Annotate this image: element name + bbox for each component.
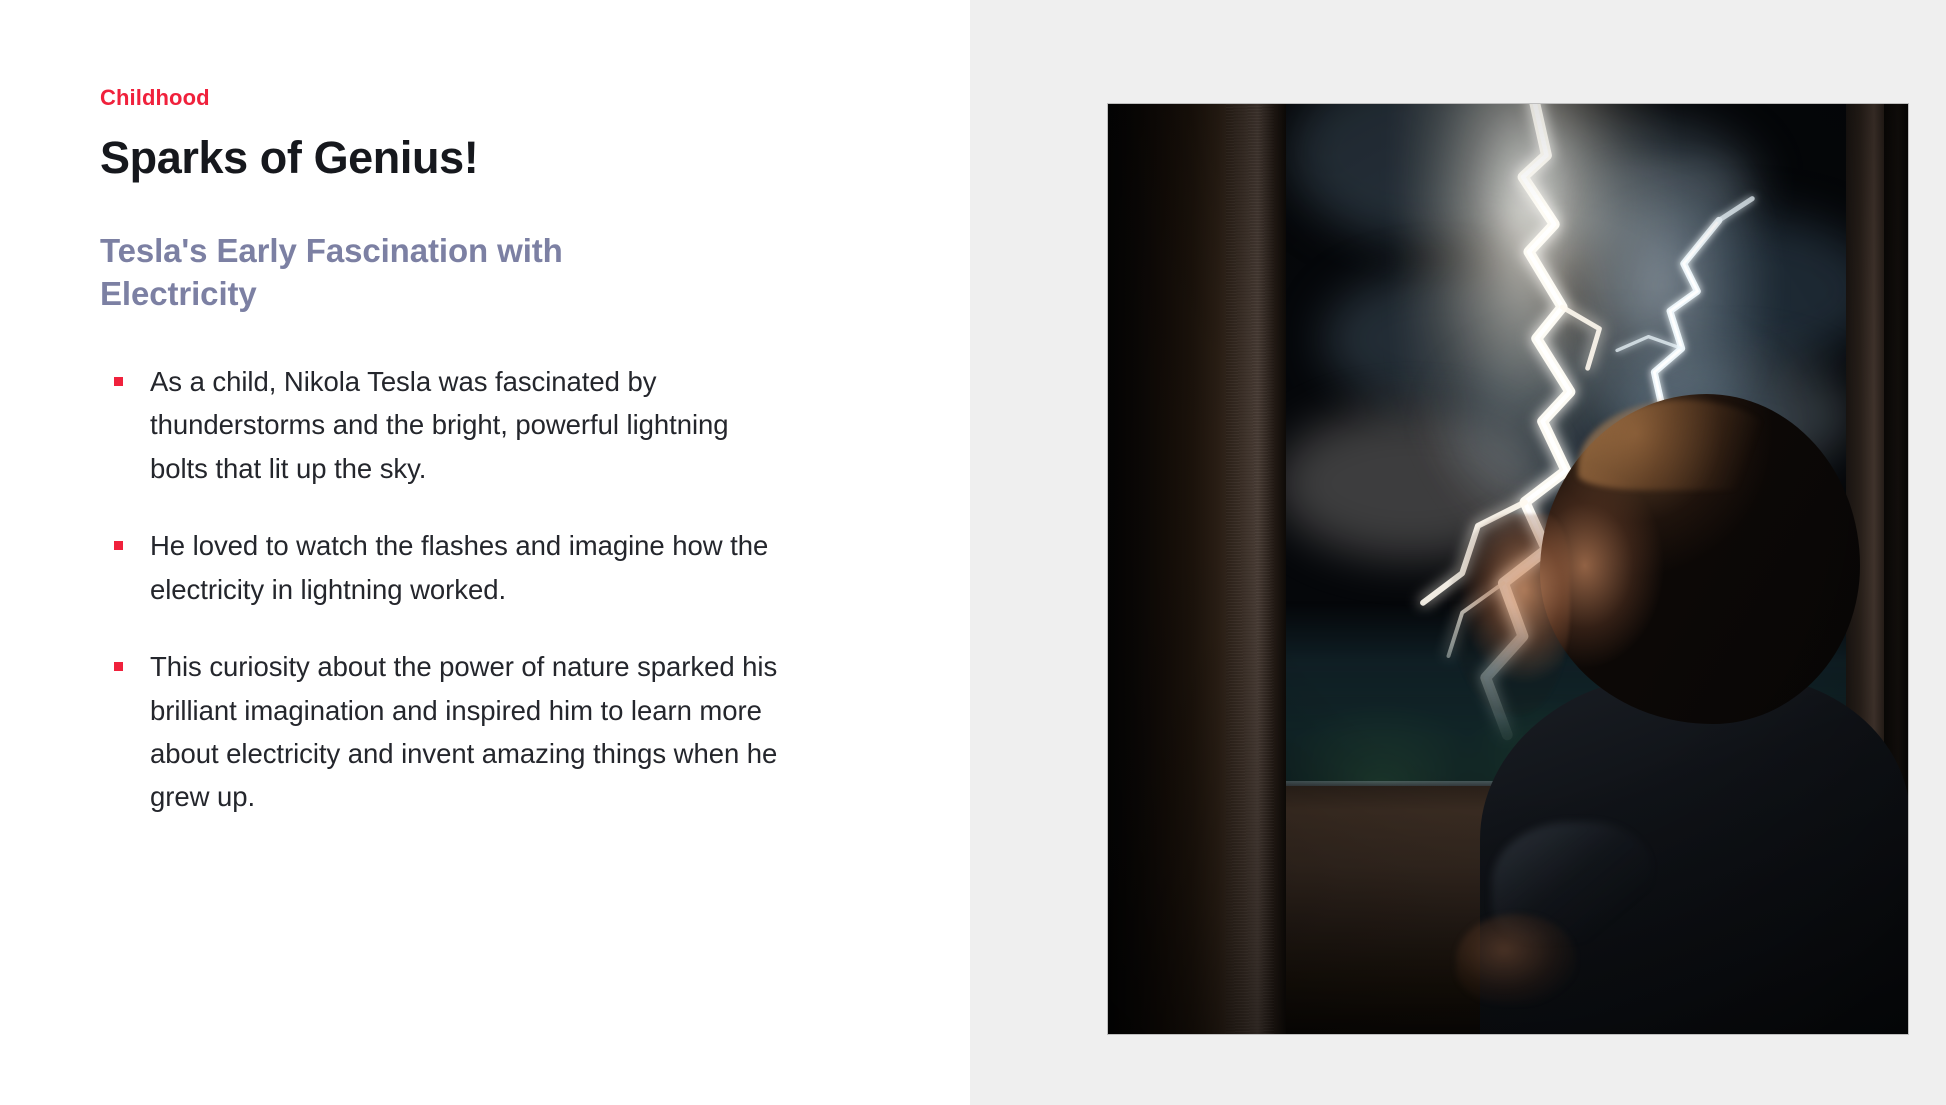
list-item: This curiosity about the power of nature… bbox=[100, 645, 780, 819]
list-item-text: As a child, Nikola Tesla was fascinated … bbox=[150, 366, 729, 484]
child-head bbox=[1540, 394, 1860, 724]
slide-photo bbox=[1108, 104, 1908, 1034]
text-panel: Childhood Sparks of Genius! Tesla's Earl… bbox=[0, 0, 970, 1105]
square-bullet-icon bbox=[114, 377, 123, 386]
child-hair-highlight bbox=[1578, 400, 1788, 490]
list-item: He loved to watch the flashes and imagin… bbox=[100, 524, 780, 611]
square-bullet-icon bbox=[114, 541, 123, 550]
section-eyebrow-label: Childhood bbox=[100, 86, 970, 110]
curtain bbox=[1108, 104, 1286, 1034]
bullet-list: As a child, Nikola Tesla was fascinated … bbox=[100, 360, 780, 819]
image-panel bbox=[970, 0, 1946, 1105]
square-bullet-icon bbox=[114, 662, 123, 671]
list-item-text: He loved to watch the flashes and imagin… bbox=[150, 530, 768, 604]
list-item: As a child, Nikola Tesla was fascinated … bbox=[100, 360, 780, 490]
page-title: Sparks of Genius! bbox=[100, 134, 970, 183]
child-face-profile bbox=[1450, 514, 1570, 714]
page-subtitle: Tesla's Early Fascination with Electrici… bbox=[100, 229, 700, 316]
curtain-texture bbox=[1226, 104, 1274, 1034]
list-item-text: This curiosity about the power of nature… bbox=[150, 651, 777, 812]
slide-root: Childhood Sparks of Genius! Tesla's Earl… bbox=[0, 0, 1946, 1105]
photo-scene bbox=[1108, 104, 1908, 1034]
child-silhouette bbox=[1450, 394, 1870, 1034]
child-hand bbox=[1456, 914, 1576, 1004]
